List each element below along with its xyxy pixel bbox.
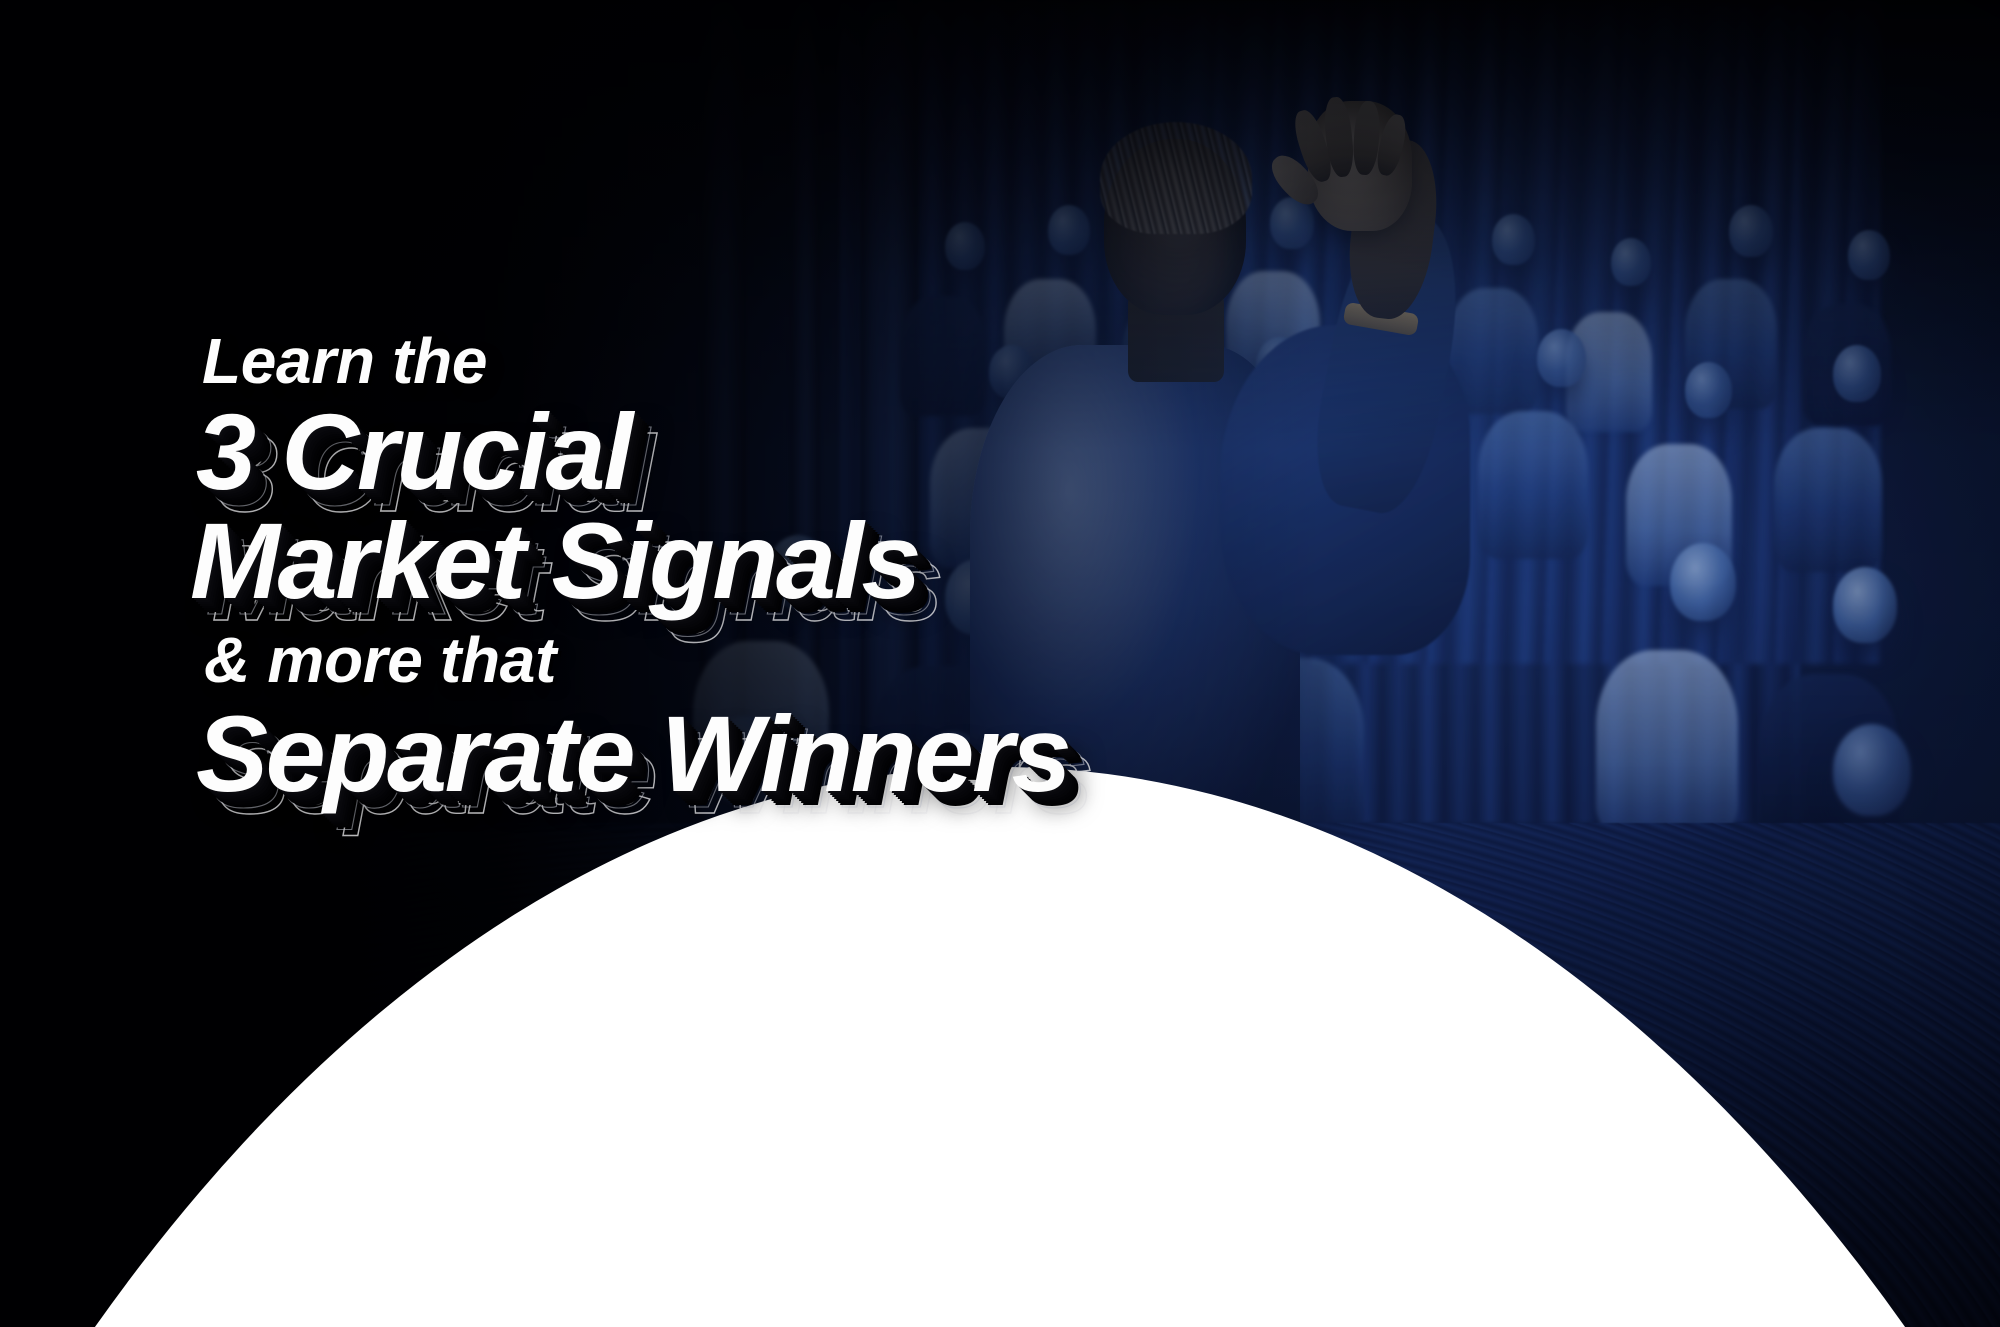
headline-line-2: 3 Crucial 3 Crucial 3 Crucial [196, 399, 1376, 506]
headline-line-5-text: Separate Winners [196, 693, 1069, 814]
headline-line-3: Market Signals Market Signals Market Sig… [190, 508, 1376, 615]
headline-line-4: & more that [204, 629, 1376, 692]
headline-block: Learn the 3 Crucial 3 Crucial 3 Crucial … [196, 330, 1376, 807]
headline-line-1: Learn the [202, 330, 1376, 393]
headline-line-5: Separate Winners Separate Winners Separa… [196, 701, 1376, 808]
headline-line-3-text: Market Signals [190, 500, 919, 621]
hero-banner: Learn the 3 Crucial 3 Crucial 3 Crucial … [0, 0, 2000, 1327]
headline-line-2-text: 3 Crucial [196, 391, 631, 512]
